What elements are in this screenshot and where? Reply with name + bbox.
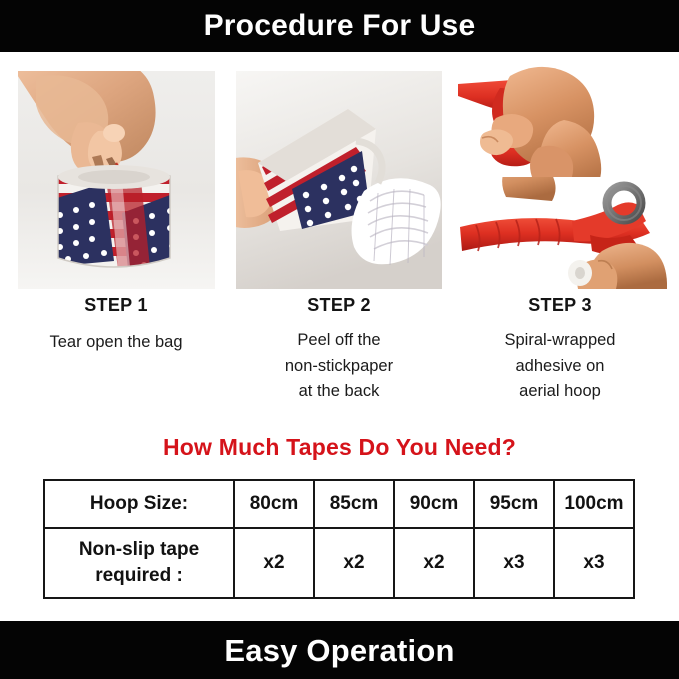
table-row-hoop-size: Hoop Size: 80cm 85cm 90cm 95cm 100cm (44, 480, 634, 528)
hoop-size-cell-1: 85cm (314, 480, 394, 528)
step-3-photo-top (452, 62, 667, 177)
step-2-title: STEP 2 (232, 295, 446, 316)
step-2-line-3: at the back (232, 379, 446, 405)
step-1-line-1: Tear open the bag (6, 330, 226, 356)
tape-qty-cell-0: x2 (234, 528, 314, 598)
table-heading: How Much Tapes Do You Need? (0, 434, 679, 461)
step-3-caption: STEP 3 Spiral-wrapped adhesive on aerial… (448, 295, 672, 405)
photo-wrapping-red-tape-on-hoop-image (452, 62, 667, 177)
hoop-size-table: Hoop Size: 80cm 85cm 90cm 95cm 100cm Non… (43, 479, 635, 599)
bottom-banner: Easy Operation (0, 621, 679, 679)
photo-hand-tearing-bag-with-flag-tape-roll-image (18, 71, 215, 289)
table-row-tape-required: Non-slip tape required : x2 x2 x2 x3 x3 (44, 528, 634, 598)
photo-spiral-wrapped-hoop-with-ring-image (452, 177, 667, 289)
hoop-size-label: Hoop Size: (44, 480, 234, 528)
top-banner: Procedure For Use (0, 0, 679, 52)
photo-peeling-backing-paper-from-flag-tape-image (236, 71, 442, 289)
step-3-title: STEP 3 (448, 295, 672, 316)
tape-required-label-line-1: Non-slip tape (49, 537, 229, 563)
bottom-banner-title: Easy Operation (224, 635, 454, 666)
tape-qty-cell-1: x2 (314, 528, 394, 598)
step-3-line-1: Spiral-wrapped (448, 328, 672, 354)
step-2-photo (236, 71, 442, 289)
tape-qty-cell-4: x3 (554, 528, 634, 598)
hoop-size-cell-3: 95cm (474, 480, 554, 528)
step-2-line-2: non-stickpaper (232, 354, 446, 380)
step-2-line-1: Peel off the (232, 328, 446, 354)
tape-qty-cell-2: x2 (394, 528, 474, 598)
step-1-caption: STEP 1 Tear open the bag (6, 295, 226, 356)
hoop-size-cell-0: 80cm (234, 480, 314, 528)
steps-section: STEP 1 Tear open the bag STEP 2 Peel off… (0, 52, 679, 430)
hoop-size-cell-2: 90cm (394, 480, 474, 528)
hoop-size-cell-4: 100cm (554, 480, 634, 528)
tape-qty-cell-3: x3 (474, 528, 554, 598)
step-1-title: STEP 1 (6, 295, 226, 316)
tape-required-label-line-2: required : (49, 563, 229, 589)
step-3-line-2: adhesive on (448, 354, 672, 380)
top-banner-title: Procedure For Use (204, 11, 476, 41)
tape-required-label: Non-slip tape required : (44, 528, 234, 598)
step-1-photo (18, 71, 215, 289)
step-2-caption: STEP 2 Peel off the non-stickpaper at th… (232, 295, 446, 405)
step-3-line-3: aerial hoop (448, 379, 672, 405)
step-3-photo-bottom (452, 177, 667, 289)
